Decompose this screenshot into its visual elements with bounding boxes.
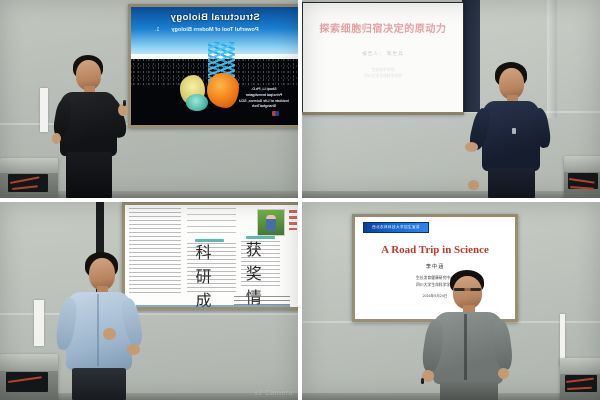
shirt-placket xyxy=(97,294,99,366)
slide-affiliation-block: 生长发育健康研究中心 四川大学生命科学学院 xyxy=(355,275,515,288)
collage-panel-bottom-left: 科研成果 获奖情况 xyxy=(0,202,298,400)
presenter-remote xyxy=(123,100,126,106)
shirt-placket xyxy=(464,314,467,380)
polo-chest-logo xyxy=(512,128,516,134)
slide-document: 科研成果 获奖情况 xyxy=(125,205,298,307)
slide-date: 2016年9月24日 xyxy=(355,294,515,299)
camera-watermark: x2 Camera xyxy=(254,390,293,397)
screen-bottom-rail xyxy=(302,112,464,115)
presenter-glasses xyxy=(454,288,481,291)
projection-screen-frame: 西北农林科技大学招生宣讲 A Road Trip in Science 李中涵 … xyxy=(352,214,518,322)
slide-title: 探索细胞归宿决定的原动力 xyxy=(303,20,463,35)
slide-title: Structural Biology xyxy=(131,12,298,23)
photo-collage: Structural Biology 1. Powerful Tool of M… xyxy=(0,0,600,400)
credit-line: Institute of Life Science, SCU xyxy=(239,99,289,105)
wall-seam xyxy=(0,313,298,315)
slide-banner: 西北农林科技大学招生宣讲 xyxy=(363,222,429,233)
document-heading: 获奖情况 xyxy=(246,236,275,239)
wall-column-dark xyxy=(462,0,480,112)
document-footer-text xyxy=(234,296,290,305)
collage-panel-top-left: Structural Biology 1. Powerful Tool of M… xyxy=(0,0,298,198)
document-column-left xyxy=(129,208,182,301)
equipment-cart xyxy=(0,158,58,198)
affiliation-line: 四川大学生命科学学院 xyxy=(355,282,515,289)
slide-presenter-line: 报告人： 蒋世兵 xyxy=(303,51,463,57)
wall-column-light xyxy=(547,0,557,118)
slide-presenter-name: 李中涵 xyxy=(355,263,515,270)
slide-institution-logo xyxy=(272,111,279,116)
slide-credit-block: Shuqi Li, Ph.D. Principal Investigator I… xyxy=(239,87,289,109)
slide-subtitle: Powerful Tool of Modern Biology xyxy=(131,27,298,33)
slide-banner-label: 西北农林科技大学招生宣讲 xyxy=(372,225,420,230)
document-red-seal xyxy=(289,210,298,230)
whiteboard-edge xyxy=(40,88,48,132)
slide-affiliation-block: 生命科学学院 四川大学生命科学学院 xyxy=(303,67,463,80)
affiliation-line: 四川大学生命科学学院 xyxy=(303,73,463,79)
equipment-cart xyxy=(564,156,600,198)
slide-structural-biology: Structural Biology 1. Powerful Tool of M… xyxy=(131,7,298,125)
collage-panel-bottom-right: 西北农林科技大学招生宣讲 A Road Trip in Science 李中涵 … xyxy=(302,202,600,400)
wall-baseboard xyxy=(302,191,600,198)
document-column-middle: 科研成果 xyxy=(187,208,236,301)
affiliation-line: 生长发育健康研究中心 xyxy=(355,275,515,282)
projection-screen-frame: 探索细胞归宿决定的原动力 报告人： 蒋世兵 生命科学学院 四川大学生命科学学院 xyxy=(302,2,464,114)
slide-road-trip: 西北农林科技大学招生宣讲 A Road Trip in Science 李中涵 … xyxy=(355,217,515,319)
projection-screen-frame: 科研成果 获奖情况 xyxy=(122,202,298,310)
equipment-cart xyxy=(0,354,58,400)
slide-title: A Road Trip in Science xyxy=(355,244,515,256)
credit-line: ShanghaiTech xyxy=(239,104,289,110)
presenter-remote xyxy=(421,378,424,384)
collage-panel-top-right: 探索细胞归宿决定的原动力 报告人： 蒋世兵 生命科学学院 四川大学生命科学学院 xyxy=(302,0,600,198)
slide-protein-ribbon-teal xyxy=(186,94,208,111)
document-portrait-photo xyxy=(257,209,285,235)
projection-screen-frame: Structural Biology 1. Powerful Tool of M… xyxy=(128,4,298,128)
equipment-cart xyxy=(560,358,600,400)
document-bottom-rule xyxy=(136,305,291,307)
whiteboard-edge xyxy=(34,300,44,346)
slide-cell-fate: 探索细胞归宿决定的原动力 报告人： 蒋世兵 生命科学学院 四川大学生命科学学院 xyxy=(303,3,463,113)
document-heading: 科研成果 xyxy=(195,239,224,242)
